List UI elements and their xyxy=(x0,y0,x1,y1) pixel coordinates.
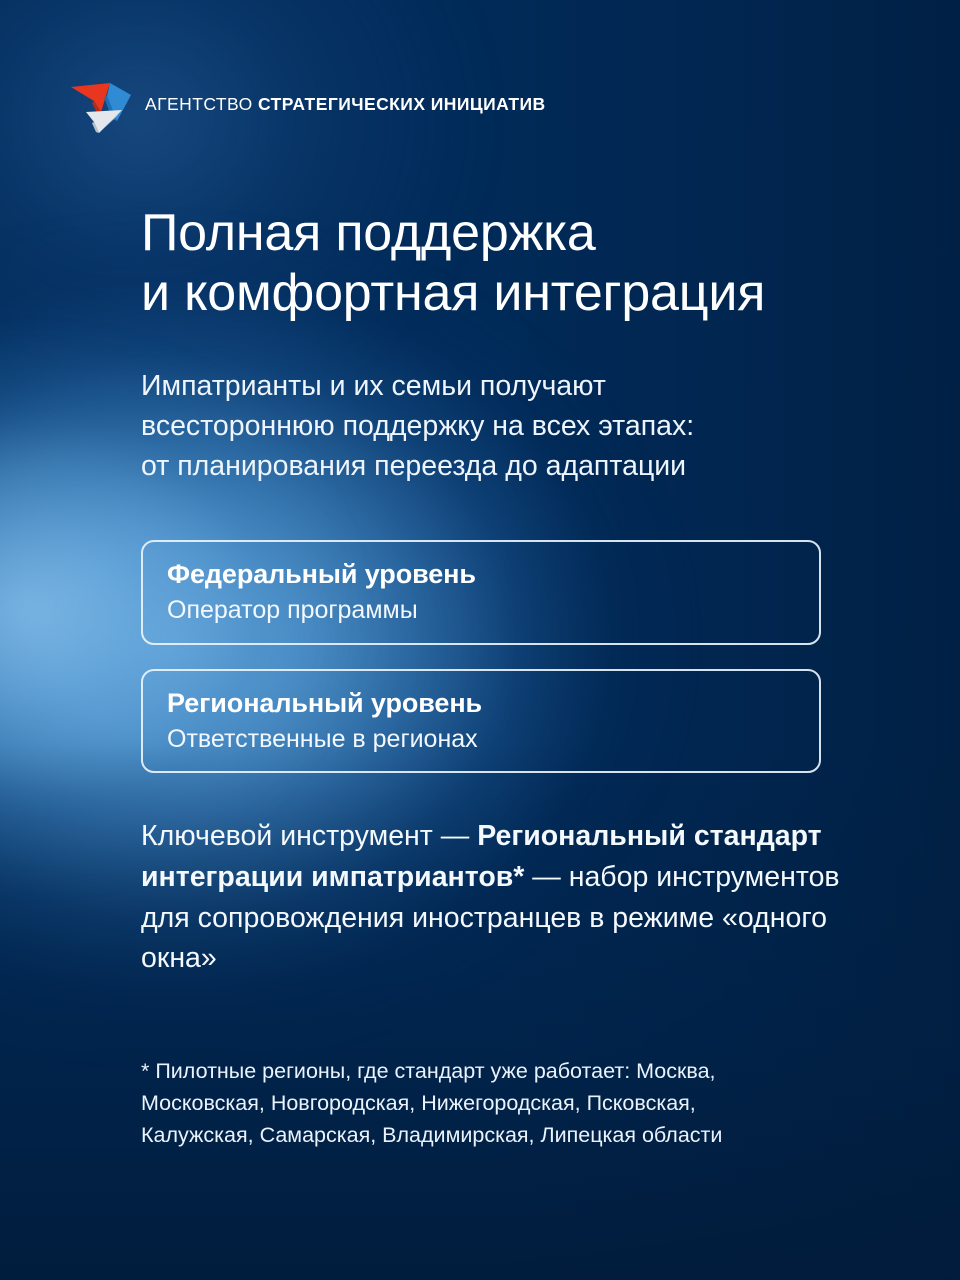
key-instrument-paragraph: Ключевой инструмент — Региональный станд… xyxy=(141,816,881,979)
key-instrument-text-part-1: Ключевой инструмент — xyxy=(141,820,477,852)
footnote-line-2: Московская, Новгородская, Нижегородская,… xyxy=(141,1088,901,1120)
level-card-regional[interactable]: Региональный уровень Ответственные в рег… xyxy=(141,669,821,774)
level-card-federal[interactable]: Федеральный уровень Оператор программы xyxy=(141,540,821,645)
footnote-line-3: Калужская, Самарская, Владимирская, Липе… xyxy=(141,1120,901,1152)
page-title: Полная поддержка и комфортная интеграция xyxy=(141,203,871,324)
lead-line-3: от планирования переезда до адаптации xyxy=(141,447,861,487)
poster-content: АГЕНТСТВО СТРАТЕГИЧЕСКИХ ИНИЦИАТИВ Полна… xyxy=(0,0,960,1280)
brand-logo: АГЕНТСТВО СТРАТЕГИЧЕСКИХ ИНИЦИАТИВ xyxy=(70,74,546,134)
level-card-regional-subtitle: Ответственные в регионах xyxy=(167,723,795,756)
lead-line-2: всестороннюю поддержку на всех этапах: xyxy=(141,407,861,447)
headline-line-1: Полная поддержка xyxy=(141,203,871,263)
level-card-regional-title: Региональный уровень xyxy=(167,686,795,721)
level-card-federal-subtitle: Оператор программы xyxy=(167,594,795,627)
headline-line-2: и комфортная интеграция xyxy=(141,263,871,323)
brand-name-bold: СТРАТЕГИЧЕСКИХ ИНИЦИАТИВ xyxy=(258,94,546,114)
brand-name-light: АГЕНТСТВО xyxy=(145,94,253,114)
brand-logo-text: АГЕНТСТВО СТРАТЕГИЧЕСКИХ ИНИЦИАТИВ xyxy=(145,94,546,114)
lead-line-1: Импатрианты и их семьи получают xyxy=(141,367,861,407)
asi-arrow-logo-icon xyxy=(70,74,132,134)
footnote-line-1: * Пилотные регионы, где стандарт уже раб… xyxy=(141,1056,901,1088)
level-card-federal-title: Федеральный уровень xyxy=(167,557,795,592)
lead-paragraph: Импатрианты и их семьи получают всесторо… xyxy=(141,367,861,487)
support-levels-list: Федеральный уровень Оператор программы Р… xyxy=(141,540,821,773)
pilot-regions-footnote: * Пилотные регионы, где стандарт уже раб… xyxy=(141,1056,901,1151)
poster-canvas: АГЕНТСТВО СТРАТЕГИЧЕСКИХ ИНИЦИАТИВ Полна… xyxy=(0,0,960,1280)
